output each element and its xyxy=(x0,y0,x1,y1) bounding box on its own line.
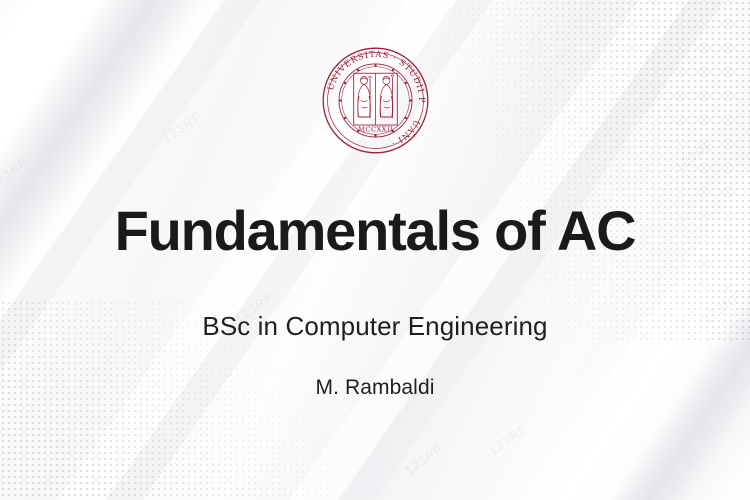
svg-text:UANI ·: UANI · xyxy=(389,118,422,149)
university-seal-icon: UNIVERSITAS · STUDII PAD UANI · xyxy=(321,46,430,155)
presentation-title-slide: 123RF 123RF 123RF 123RF 123RF 123RF 123R… xyxy=(0,0,750,500)
background-dot-grid-right xyxy=(440,0,750,340)
svg-text:MCCXXII: MCCXXII xyxy=(358,126,393,134)
slide-subtitle: BSc in Computer Engineering xyxy=(0,311,750,342)
slide-author: M. Rambaldi xyxy=(0,376,750,400)
page-title: Fundamentals of AC xyxy=(0,202,750,261)
